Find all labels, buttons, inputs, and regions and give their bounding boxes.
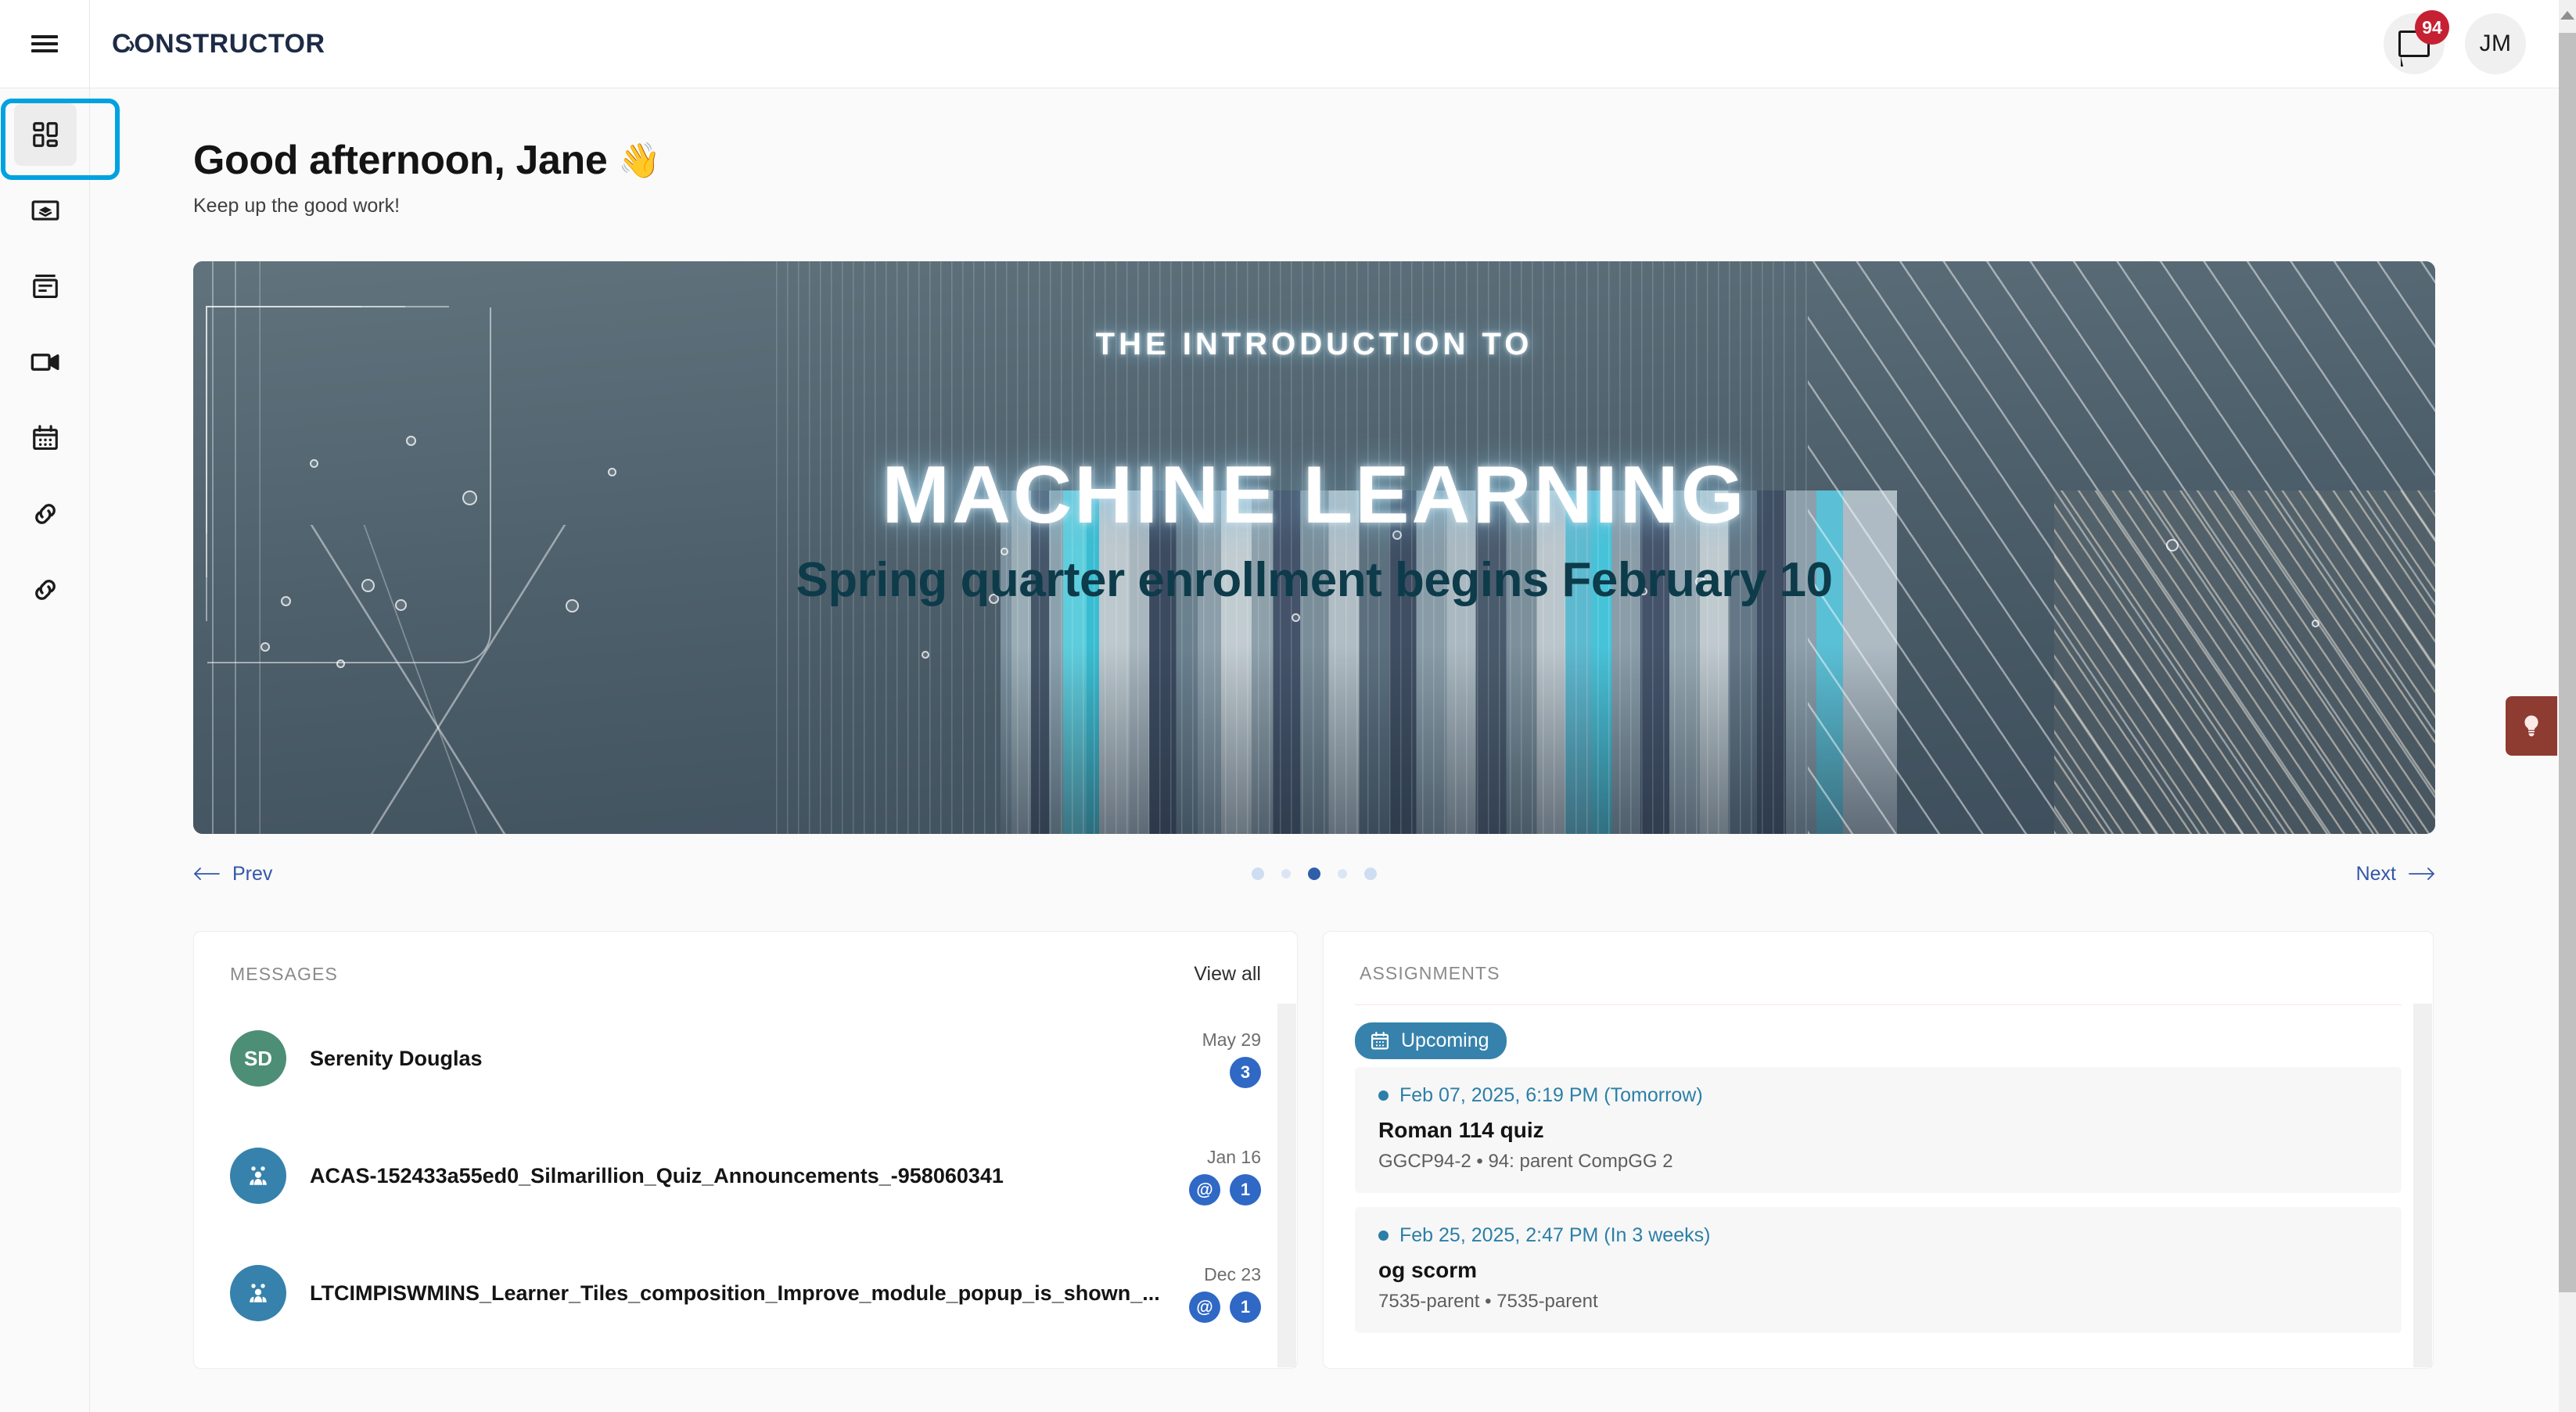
message-badges: @ 1 (1189, 1174, 1261, 1205)
sidebar-item-calendar[interactable] (0, 400, 90, 476)
group-avatar-icon (230, 1265, 286, 1321)
messages-view-all-link[interactable]: View all (1194, 963, 1261, 986)
message-badges: 3 (1230, 1057, 1261, 1088)
sidebar (0, 88, 90, 1412)
assignment-due-row: Feb 25, 2025, 2:47 PM (In 3 weeks) (1378, 1224, 2378, 1247)
assignment-title: og scorm (1378, 1258, 2378, 1283)
greeting-subtitle: Keep up the good work! (193, 195, 2559, 217)
hamburger-bar (31, 42, 58, 45)
message-row[interactable]: ACAS-152433a55ed0_Silmarillion_Quiz_Anno… (194, 1117, 1297, 1234)
message-date: Jan 16 (1207, 1147, 1261, 1168)
carousel-next-label: Next (2356, 863, 2396, 886)
assignments-scrollbar[interactable] (2413, 1004, 2432, 1367)
assignments-card: ASSIGNMENTS (1323, 931, 2434, 1369)
mention-badge: @ (1189, 1292, 1220, 1323)
lightbulb-icon (2518, 713, 2545, 739)
banner-headline: MACHINE LEARNING (193, 449, 2435, 542)
carousel-dot-4[interactable] (1338, 869, 1347, 878)
calendar-icon (14, 407, 77, 469)
hamburger-bar (31, 49, 58, 52)
banner-slide[interactable]: THE INTRODUCTION TO MACHINE LEARNING Spr… (193, 261, 2435, 834)
carousel-dot-1[interactable] (1252, 868, 1264, 880)
page-scrollbar[interactable] (2559, 0, 2576, 1412)
carousel-dot-5[interactable] (1364, 868, 1377, 880)
waving-hand-icon: 👋 (618, 140, 660, 181)
scrollbar-thumb[interactable] (2559, 33, 2576, 1292)
messages-card-title: MESSAGES (230, 964, 338, 985)
upcoming-tag-label: Upcoming (1401, 1029, 1489, 1052)
assignments-body: Upcoming Feb 07, 2025, 6:19 PM (Tomorrow… (1324, 984, 2433, 1333)
assignments-card-title: ASSIGNMENTS (1360, 963, 1500, 984)
assignment-subtitle: 7535-parent • 7535-parent (1378, 1291, 2378, 1313)
brand-logo-suffix: ONSTRUCTOR (134, 29, 325, 59)
greeting-text: Good afternoon, Jane (193, 137, 607, 184)
link-icon (14, 483, 77, 545)
chat-unread-badge: 94 (2415, 10, 2449, 45)
greeting-block: Good afternoon, Jane 👋 Keep up the good … (90, 88, 2559, 217)
carousel-dots (1252, 868, 1377, 880)
group-avatar-icon (230, 1148, 286, 1204)
sidebar-item-external-links[interactable] (0, 552, 90, 627)
assignment-item[interactable]: Feb 07, 2025, 6:19 PM (Tomorrow) Roman 1… (1355, 1067, 2402, 1193)
hamburger-menu-icon[interactable] (0, 0, 90, 88)
unread-count-badge: 1 (1230, 1292, 1261, 1323)
message-date: May 29 (1202, 1029, 1261, 1051)
carousel-dot-2[interactable] (1281, 869, 1291, 878)
assignment-title: Roman 114 quiz (1378, 1118, 2378, 1143)
video-camera-icon (14, 331, 77, 393)
carousel-controls: Prev Next (193, 851, 2435, 896)
messages-scrollbar[interactable] (1277, 1004, 1296, 1367)
assignment-due-date: Feb 25, 2025, 2:47 PM (In 3 weeks) (1399, 1224, 1710, 1247)
avatar: SD (230, 1030, 286, 1087)
banner-carousel: THE INTRODUCTION TO MACHINE LEARNING Spr… (90, 217, 2559, 834)
assignments-filter-row: Upcoming (1324, 1005, 2433, 1067)
brand-logo[interactable]: C›ONSTRUCTOR (112, 29, 325, 59)
message-meta: Jan 16 @ 1 (1189, 1147, 1261, 1205)
layers-card-icon (14, 179, 77, 242)
message-row[interactable]: SD Serenity Douglas May 29 3 (194, 1000, 1297, 1117)
carousel-prev-label: Prev (232, 863, 272, 886)
dashboard-grid-icon (14, 103, 77, 166)
upcoming-tag[interactable]: Upcoming (1355, 1022, 1507, 1059)
message-badges: @ 1 (1189, 1292, 1261, 1323)
banner-overlay-text: Spring quarter enrollment begins Februar… (193, 552, 2435, 608)
sidebar-item-courses[interactable] (0, 172, 90, 248)
status-dot-icon (1378, 1231, 1389, 1241)
message-title: LTCIMPISWMINS_Learner_Tiles_composition_… (310, 1281, 1160, 1306)
sidebar-item-content[interactable] (0, 248, 90, 324)
text-card-icon (14, 255, 77, 318)
mention-badge: @ (1189, 1174, 1220, 1205)
message-title: ACAS-152433a55ed0_Silmarillion_Quiz_Anno… (310, 1164, 1004, 1188)
sidebar-item-video[interactable] (0, 324, 90, 400)
page-title: Good afternoon, Jane 👋 (193, 137, 2559, 184)
topbar-actions: 94 JM (2384, 13, 2559, 74)
top-bar: C›ONSTRUCTOR 94 JM (0, 0, 2559, 88)
message-row[interactable]: LTCIMPISWMINS_Learner_Tiles_composition_… (194, 1234, 1297, 1352)
message-title: Serenity Douglas (310, 1047, 483, 1071)
calendar-icon (1369, 1030, 1391, 1052)
carousel-prev-button[interactable]: Prev (193, 863, 272, 886)
scroll-up-arrow-icon[interactable] (2560, 11, 2574, 20)
message-meta: Dec 23 @ 1 (1189, 1264, 1261, 1323)
unread-count-badge: 3 (1230, 1057, 1261, 1088)
assignment-due-row: Feb 07, 2025, 6:19 PM (Tomorrow) (1378, 1084, 2378, 1107)
arrow-right-icon (2409, 866, 2435, 882)
assignment-item[interactable]: Feb 25, 2025, 2:47 PM (In 3 weeks) og sc… (1355, 1207, 2402, 1333)
user-avatar[interactable]: JM (2465, 13, 2526, 74)
message-date: Dec 23 (1204, 1264, 1261, 1285)
carousel-next-button[interactable]: Next (2356, 863, 2435, 886)
feedback-tab-button[interactable] (2506, 696, 2557, 756)
assignment-due-date: Feb 07, 2025, 6:19 PM (Tomorrow) (1399, 1084, 1703, 1107)
unread-count-badge: 1 (1230, 1174, 1261, 1205)
sidebar-item-links[interactable] (0, 476, 90, 552)
messages-card-header: MESSAGES View all (194, 932, 1297, 986)
messages-list: SD Serenity Douglas May 29 3 (194, 986, 1297, 1352)
assignments-card-header: ASSIGNMENTS (1324, 932, 2433, 984)
assignment-subtitle: GGCP94-2 • 94: parent CompGG 2 (1378, 1151, 2378, 1173)
chat-button[interactable]: 94 (2384, 13, 2445, 74)
status-dot-icon (1378, 1090, 1389, 1101)
sidebar-item-dashboard[interactable] (0, 96, 90, 172)
hamburger-bar (31, 35, 58, 38)
arrow-left-icon (193, 866, 220, 882)
main-content: Good afternoon, Jane 👋 Keep up the good … (90, 88, 2559, 1412)
messages-card: MESSAGES View all SD Serenity Douglas Ma… (193, 931, 1298, 1369)
message-meta: May 29 3 (1202, 1029, 1261, 1088)
link-icon (14, 559, 77, 621)
dashboard-cards: MESSAGES View all SD Serenity Douglas Ma… (90, 896, 2559, 1369)
carousel-dot-3[interactable] (1308, 868, 1320, 880)
brand-chevron-icon: › (128, 29, 135, 59)
banner-eyebrow: THE INTRODUCTION TO (193, 327, 2435, 362)
